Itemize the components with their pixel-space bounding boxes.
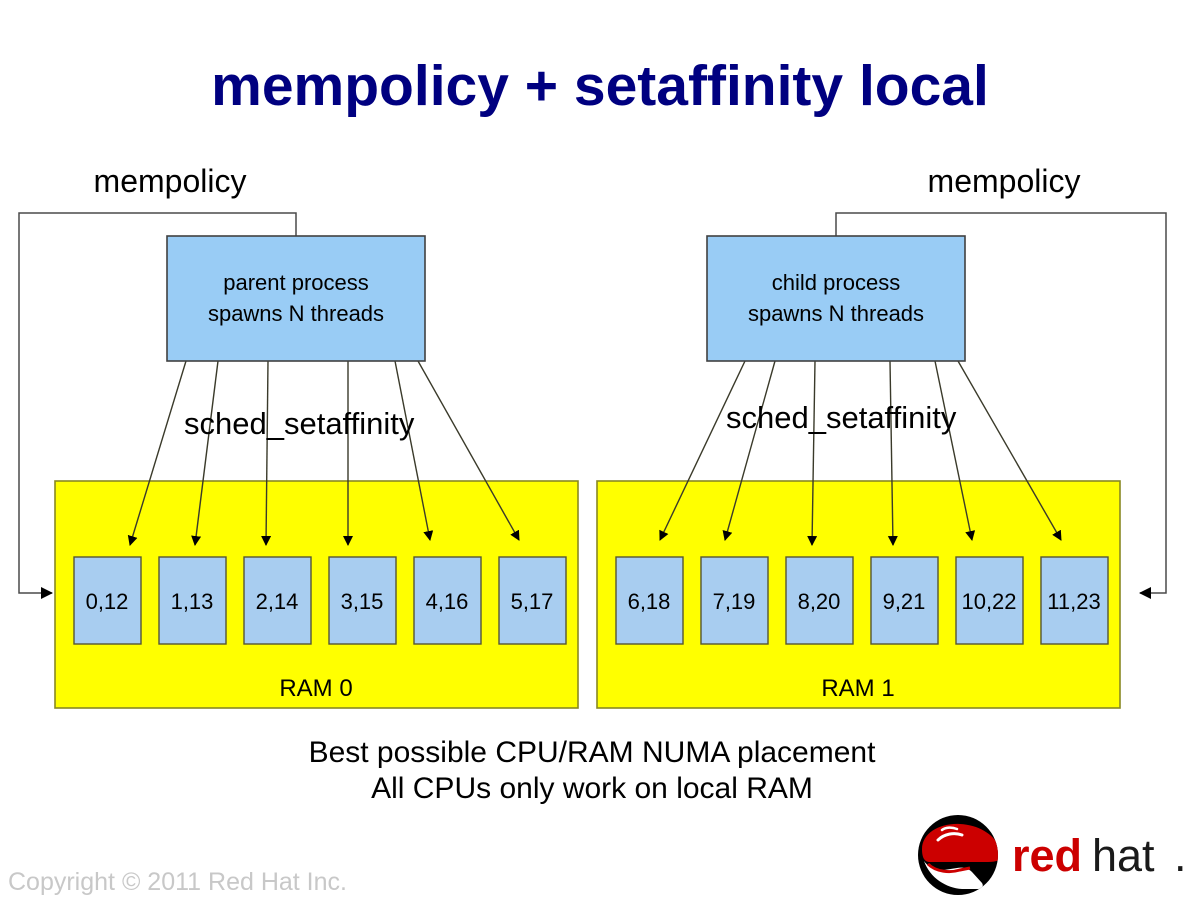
ram-label-0: RAM 0 xyxy=(279,675,352,702)
mempolicy-label-left: mempolicy xyxy=(94,163,247,199)
process-box-child xyxy=(707,236,965,361)
cpu-label-1: 1,13 xyxy=(171,589,214,614)
ram-label-1: RAM 1 xyxy=(821,675,894,702)
caption-line-2: All CPUs only work on local RAM xyxy=(371,772,813,805)
redhat-logo: red hat . xyxy=(918,815,1187,895)
cpu-label-11: 11,23 xyxy=(1047,589,1100,614)
cpu-label-4: 4,16 xyxy=(426,589,469,614)
setaffinity-label-left: sched_setaffinity xyxy=(184,406,415,441)
cpu-label-7: 7,19 xyxy=(713,589,756,614)
redhat-wordmark-black: hat xyxy=(1092,830,1155,881)
cpu-label-9: 9,21 xyxy=(883,589,926,614)
setaffinity-label-right: sched_setaffinity xyxy=(726,400,957,435)
page-title: mempolicy + setaffinity local xyxy=(211,54,989,118)
numa-diagram: mempolicy + setaffinity local mempolicy … xyxy=(0,0,1200,901)
redhat-wordmark-red: red xyxy=(1012,830,1082,881)
cpu-label-10: 10,22 xyxy=(961,589,1016,614)
process-parent-line1: parent process xyxy=(223,270,369,295)
cpu-label-8: 8,20 xyxy=(798,589,841,614)
copyright-text: Copyright © 2011 Red Hat Inc. xyxy=(8,868,347,896)
process-parent-line2: spawns N threads xyxy=(208,301,384,326)
cpu-label-2: 2,14 xyxy=(256,589,299,614)
cpu-label-3: 3,15 xyxy=(341,589,384,614)
process-child-line2: spawns N threads xyxy=(748,301,924,326)
process-child-line1: child process xyxy=(772,270,900,295)
caption-line-1: Best possible CPU/RAM NUMA placement xyxy=(309,736,877,769)
cpu-label-6: 6,18 xyxy=(628,589,671,614)
slide-canvas: mempolicy + setaffinity local mempolicy … xyxy=(0,0,1200,901)
redhat-wordmark-dot: . xyxy=(1174,830,1187,881)
mempolicy-label-right: mempolicy xyxy=(928,163,1081,199)
cpu-label-5: 5,17 xyxy=(511,589,554,614)
process-box-parent xyxy=(167,236,425,361)
cpu-label-0: 0,12 xyxy=(86,589,129,614)
